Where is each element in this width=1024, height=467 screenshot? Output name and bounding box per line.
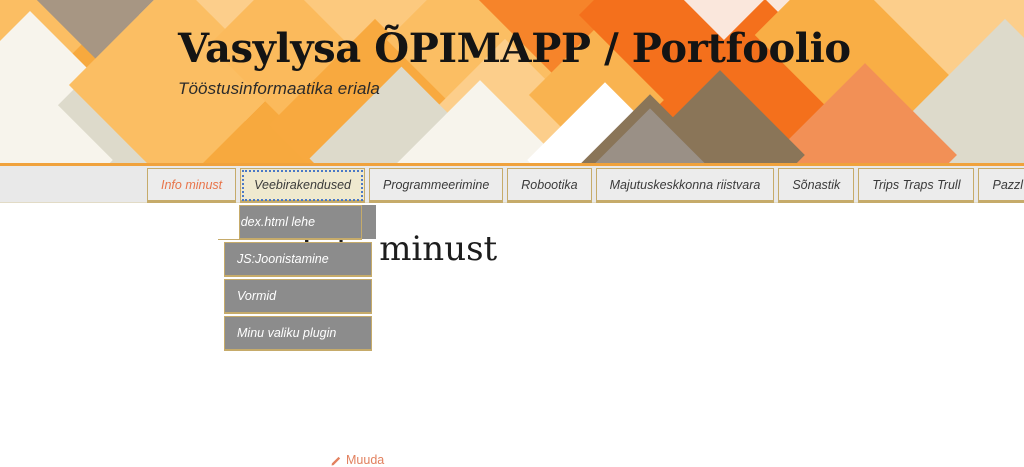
main-content: Info minust Olen rühmaõpilane TITpv24 Õp… (0, 203, 1024, 466)
nav-item-label: Trips Traps Trull (872, 178, 960, 192)
dropdown-item-label: JS:Joonistamine (237, 252, 329, 266)
dropdown-occluder (218, 205, 240, 239)
dropdown-menu-veebirakendused: index.html lehe JS:Joonistamine Vormid M… (224, 205, 372, 353)
nav-item-label: Majutuskeskkonna riistvara (610, 178, 761, 192)
dropdown-item-minu-valiku-plugin[interactable]: Minu valiku plugin (224, 316, 372, 351)
page-tagline: Tööstusinformaatika eriala (178, 79, 1024, 99)
dropdown-item-label: Vormid (237, 289, 276, 303)
nav-item-pazzl[interactable]: Pazzl (978, 168, 1024, 203)
nav-item-trips-traps-trull[interactable]: Trips Traps Trull (858, 168, 974, 203)
site-banner: Vasylysa ÕPIMAPP / Portfoolio Tööstusinf… (0, 0, 1024, 163)
nav-item-sonastik[interactable]: Sõnastik (778, 168, 854, 203)
edit-link-label: Muuda (346, 453, 384, 467)
nav-item-majutuskeskkonna-riistvara[interactable]: Majutuskeskkonna riistvara (596, 168, 775, 203)
nav-item-label: Sõnastik (792, 178, 840, 192)
nav-item-label: Robootika (521, 178, 577, 192)
nav-item-info-minust[interactable]: Info minust (147, 168, 236, 203)
dropdown-shadow (362, 205, 376, 239)
nav-item-label: Veebirakendused (254, 178, 351, 192)
nav-item-robootika[interactable]: Robootika (507, 168, 591, 203)
pencil-icon (331, 455, 342, 466)
nav-item-veebirakendused[interactable]: Veebirakendused (240, 168, 365, 203)
nav-item-label: Pazzl (992, 178, 1023, 192)
nav-item-label: Programmeerimine (383, 178, 489, 192)
dropdown-item-label: Minu valiku plugin (237, 326, 336, 340)
dropdown-item-vormid[interactable]: Vormid (224, 279, 372, 314)
dropdown-item-js-joonistamine[interactable]: JS:Joonistamine (224, 242, 372, 277)
page-title: Vasylysa ÕPIMAPP / Portfoolio (178, 28, 1024, 70)
main-navigation: Info minust Veebirakendused Programmeeri… (0, 163, 1024, 203)
edit-link[interactable]: Muuda (331, 453, 384, 467)
dropdown-item-label: index.html lehe (231, 215, 315, 229)
nav-item-programmeerimine[interactable]: Programmeerimine (369, 168, 503, 203)
nav-item-label: Info minust (161, 178, 222, 192)
